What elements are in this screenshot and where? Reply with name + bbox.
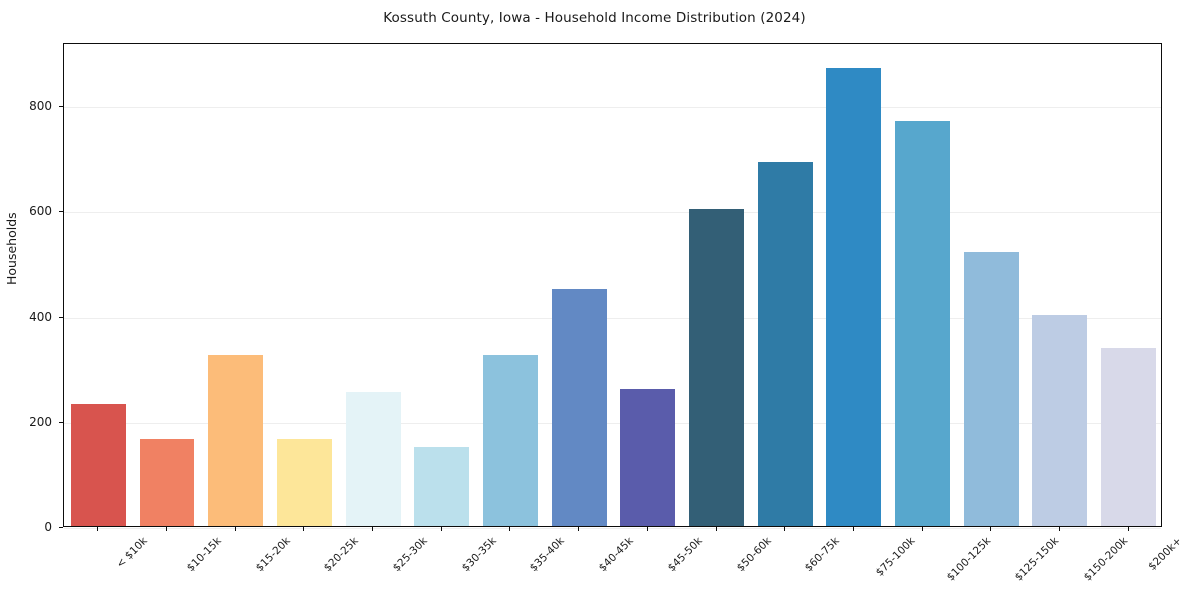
x-tick-mark [578,527,579,531]
bar [689,209,744,526]
x-tick-mark [303,527,304,531]
x-tick-label: $35-40k [528,535,567,574]
bar [964,252,1019,526]
y-axis-label: Households [4,212,19,285]
bar [620,389,675,526]
y-axis: 0200400600800 [0,43,63,527]
x-tick-label: $100-125k [944,535,993,584]
bar [1032,315,1087,526]
plot-area [63,43,1162,527]
x-tick-label: $45-50k [666,535,705,574]
x-tick-mark [1059,527,1060,531]
y-tick-label: 0 [44,520,52,534]
bar [826,68,881,526]
x-tick-mark [372,527,373,531]
y-tick-label: 600 [29,204,52,218]
x-tick-label: $200k+ [1146,535,1184,573]
chart-figure: Kossuth County, Iowa - Household Income … [0,0,1189,590]
bar [895,121,950,526]
x-tick-mark [509,527,510,531]
x-tick-label: $125-150k [1013,535,1062,584]
bar [71,404,126,526]
x-tick-mark [97,527,98,531]
x-tick-mark [647,527,648,531]
x-tick-mark [716,527,717,531]
bar [483,355,538,527]
x-tick-mark [784,527,785,531]
x-tick-mark [235,527,236,531]
x-tick-label: $50-60k [734,535,773,574]
x-tick-label: $40-45k [597,535,636,574]
x-tick-mark [853,527,854,531]
x-tick-label: $150-200k [1082,535,1131,584]
bar [414,447,469,526]
bar [277,439,332,526]
x-tick-mark [441,527,442,531]
x-axis: < $10k$10-15k$15-20k$20-25k$25-30k$30-35… [63,527,1162,590]
chart-title: Kossuth County, Iowa - Household Income … [0,10,1189,26]
x-tick-mark [922,527,923,531]
x-tick-label: $15-20k [253,535,292,574]
y-tick-label: 200 [29,415,52,429]
bar [1101,348,1156,526]
x-tick-label: $75-100k [874,535,918,579]
bar-series [64,44,1161,526]
x-tick-mark [1128,527,1129,531]
x-tick-label: $25-30k [391,535,430,574]
bar [140,439,195,526]
x-tick-label: $30-35k [459,535,498,574]
x-tick-label: < $10k [115,535,151,571]
x-tick-label: $60-75k [803,535,842,574]
y-tick-label: 800 [29,99,52,113]
bar [208,355,263,527]
x-tick-label: $20-25k [322,535,361,574]
bar [552,289,607,526]
bar [346,392,401,526]
x-tick-mark [166,527,167,531]
x-tick-mark [990,527,991,531]
bar [758,162,813,526]
x-tick-label: $10-15k [185,535,224,574]
y-tick-label: 400 [29,310,52,324]
